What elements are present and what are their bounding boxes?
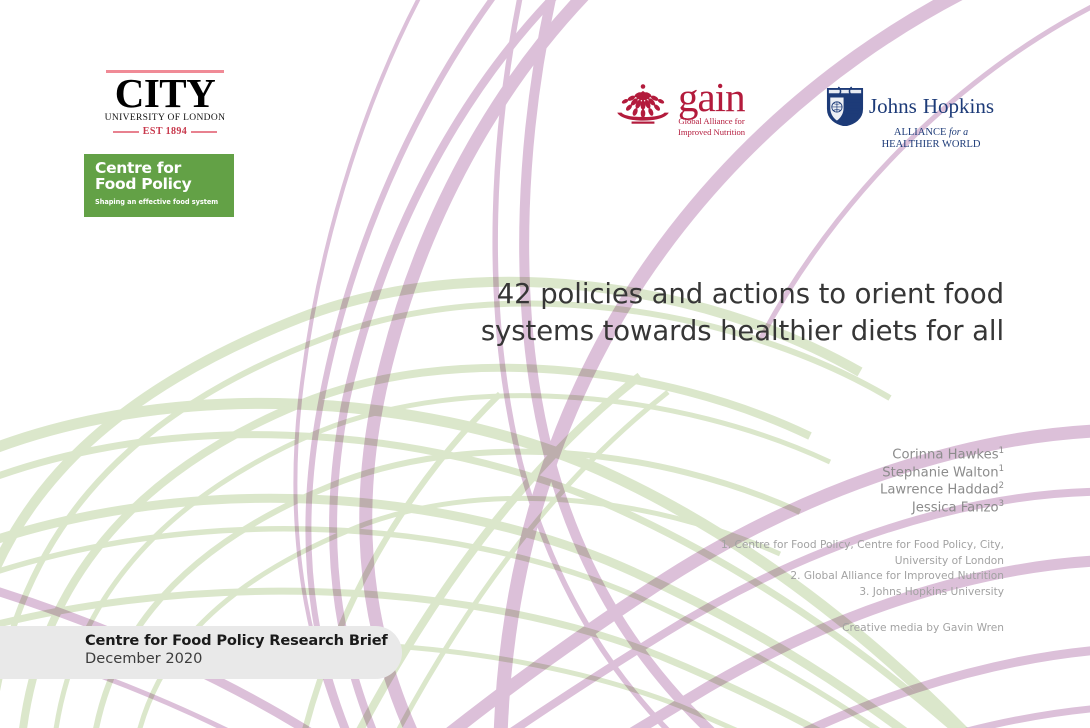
jhu-wordmark-hopkins: Hopkins: [923, 94, 994, 118]
affiliation-line: 2. Global Alliance for Improved Nutritio…: [664, 569, 1004, 585]
wheat-bowl-icon: [614, 84, 672, 124]
jhu-wordmark: JohnsHopkins: [869, 94, 994, 119]
author-entry: Stephanie Walton1: [444, 464, 1004, 482]
jhu-tagline-for-a: for a: [949, 127, 968, 138]
city-dash-left: [113, 131, 139, 133]
affiliation-line: University of London: [664, 554, 1004, 570]
author-affiliation-marker: 1: [999, 464, 1004, 474]
author-name: Jessica Fanzo: [912, 500, 999, 515]
jhu-tagline-line2: HEALTHIER WORLD: [868, 139, 994, 151]
gain-strapline-line2: Improved Nutrition: [678, 127, 745, 138]
affiliation-list: 1. Centre for Food Policy, Centre for Fo…: [664, 538, 1004, 634]
creative-media-credit: Creative media by Gavin Wren: [664, 622, 1004, 634]
title-line-2: systems towards healthier diets for all: [354, 313, 1004, 350]
centre-for-food-policy-logo: Centre for Food Policy Shaping an effect…: [84, 154, 234, 217]
author-list: Corinna Hawkes1 Stephanie Walton1 Lawren…: [444, 446, 1004, 517]
banner-title: Centre for Food Policy Research Brief: [85, 632, 402, 649]
city-dash-right: [191, 131, 217, 133]
gain-wordmark: gain: [678, 82, 745, 114]
city-established-row: EST 1894: [100, 126, 230, 137]
cfp-logo-tagline: Shaping an effective food system: [95, 198, 234, 206]
banner-date: December 2020: [85, 650, 402, 667]
city-established-label: EST 1894: [143, 126, 187, 137]
author-entry: Lawrence Haddad2: [444, 481, 1004, 499]
author-entry: Corinna Hawkes1: [444, 446, 1004, 464]
jhu-tagline-alliance: ALLIANCE: [894, 127, 947, 138]
gain-strapline: Global Alliance for Improved Nutrition: [678, 116, 745, 137]
cfp-logo-line2: Food Policy: [95, 177, 234, 193]
gain-strapline-line1: Global Alliance for: [678, 116, 745, 127]
author-name: Stephanie Walton: [882, 465, 998, 480]
author-entry: Jessica Fanzo3: [444, 499, 1004, 517]
gain-logo: gain Global Alliance for Improved Nutrit…: [614, 82, 745, 137]
city-university-logo: CITY UNIVERSITY OF LONDON EST 1894: [100, 70, 230, 137]
jhu-tagline-line1: ALLIANCE for a: [868, 127, 994, 139]
author-affiliation-marker: 3: [999, 499, 1004, 509]
jhu-tagline: ALLIANCE for a HEALTHIER WORLD: [826, 127, 994, 151]
page-title: 42 policies and actions to orient food s…: [354, 276, 1004, 349]
johns-hopkins-logo: JohnsHopkins ALLIANCE for a HEALTHIER WO…: [826, 86, 994, 151]
jhu-wordmark-row: JohnsHopkins: [826, 86, 994, 126]
title-line-1: 42 policies and actions to orient food: [354, 276, 1004, 313]
jhu-wordmark-johns: Johns: [869, 94, 917, 118]
gain-text-group: gain Global Alliance for Improved Nutrit…: [678, 82, 745, 137]
affiliation-line: 3. Johns Hopkins University: [664, 585, 1004, 601]
research-brief-banner: Centre for Food Policy Research Brief De…: [0, 626, 402, 679]
city-wordmark: CITY: [100, 75, 230, 113]
author-affiliation-marker: 1: [999, 446, 1004, 456]
city-subtitle: UNIVERSITY OF LONDON: [100, 113, 230, 123]
author-name: Lawrence Haddad: [880, 483, 999, 498]
jhu-shield-icon: [826, 86, 864, 126]
left-logo-stack: CITY UNIVERSITY OF LONDON EST 1894 Centr…: [84, 70, 236, 217]
author-affiliation-marker: 2: [999, 481, 1004, 491]
affiliation-line: 1. Centre for Food Policy, Centre for Fo…: [664, 538, 1004, 554]
author-name: Corinna Hawkes: [892, 447, 998, 462]
